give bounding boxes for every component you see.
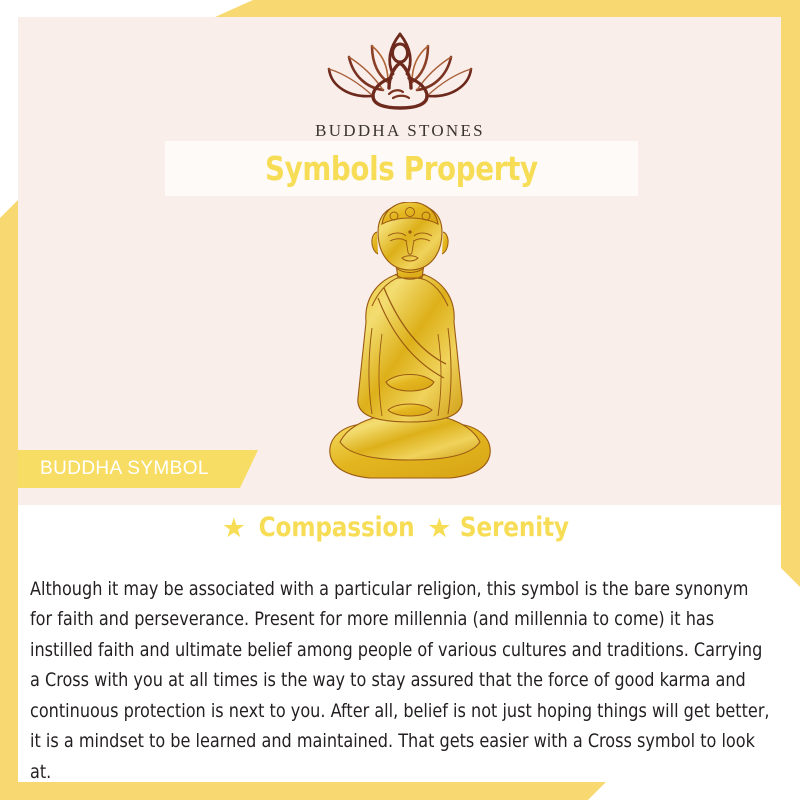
page-title: Symbols Property <box>265 149 538 188</box>
virtue-serenity: Serenity <box>460 512 569 543</box>
brand-block: BUDDHA STONES <box>0 22 800 141</box>
virtues-heading: ★Compassion★Serenity <box>0 512 800 544</box>
virtue-compassion: Compassion <box>259 512 415 543</box>
star-icon: ★ <box>427 513 451 543</box>
brand-name: BUDDHA STONES <box>0 121 800 141</box>
lotus-meditation-icon <box>315 22 485 117</box>
section-ribbon: BUDDHA SYMBOL <box>18 450 258 488</box>
star-icon: ★ <box>222 513 246 543</box>
poster-root: BUDDHA STONES Symbols Property <box>0 0 800 800</box>
section-ribbon-label: BUDDHA SYMBOL <box>18 458 209 480</box>
golden-buddha-statue <box>322 202 498 490</box>
description-paragraph: Although it may be associated with a par… <box>30 575 775 789</box>
left-yellow-bar <box>0 200 18 783</box>
buddha-statue-illustration <box>322 202 498 490</box>
top-yellow-bar <box>215 0 800 17</box>
title-plate: Symbols Property <box>165 141 638 196</box>
